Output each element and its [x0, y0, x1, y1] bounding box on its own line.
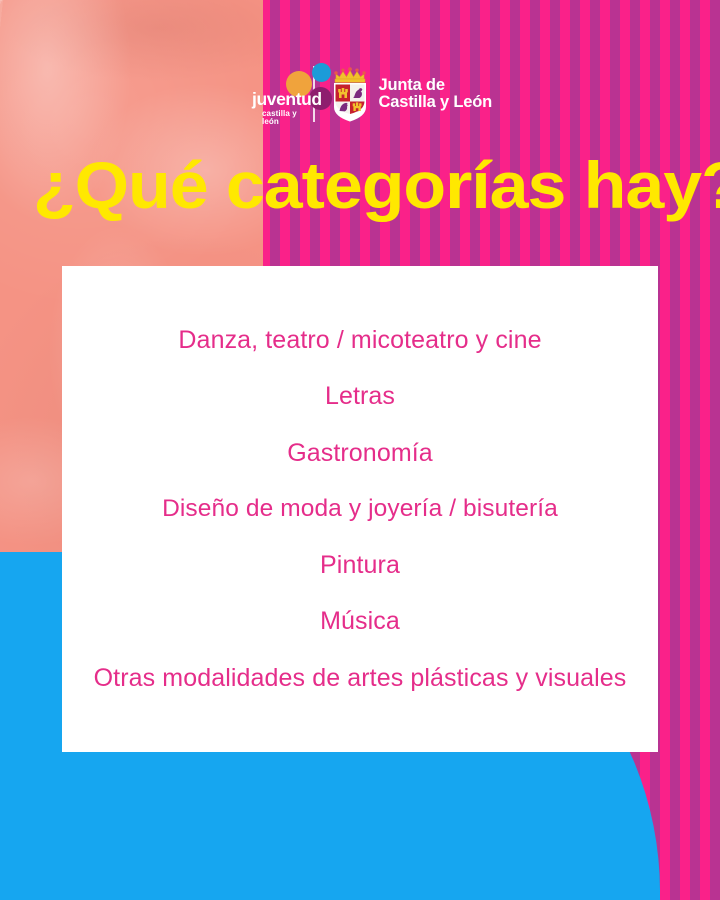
junta-line-1: Junta de	[379, 76, 445, 94]
juventud-logo: juventud castilla y león	[252, 59, 303, 129]
juventud-wordmark: juventud	[252, 91, 322, 109]
poster-canvas: juventud castilla y león	[0, 0, 720, 900]
coat-of-arms-icon	[329, 65, 371, 123]
categories-card: Danza, teatro / micoteatro y cine Letras…	[62, 266, 658, 752]
category-item: Otras modalidades de artes plásticas y v…	[78, 663, 642, 694]
junta-wordmark: Junta de Castilla y León	[379, 77, 492, 111]
junta-line-2: Castilla y León	[379, 93, 492, 111]
category-item: Música	[78, 606, 642, 637]
category-item: Gastronomía	[78, 438, 642, 469]
category-item: Pintura	[78, 550, 642, 581]
category-item: Danza, teatro / micoteatro y cine	[78, 325, 642, 356]
juventud-subtitle: castilla y león	[262, 110, 303, 126]
category-item: Letras	[78, 381, 642, 412]
category-item: Diseño de moda y joyería / bisutería	[78, 494, 642, 524]
junta-logo: Junta de Castilla y León	[329, 65, 492, 123]
page-title: ¿Qué categorías hay?	[33, 152, 720, 218]
logo-bar: juventud castilla y león	[252, 58, 492, 130]
